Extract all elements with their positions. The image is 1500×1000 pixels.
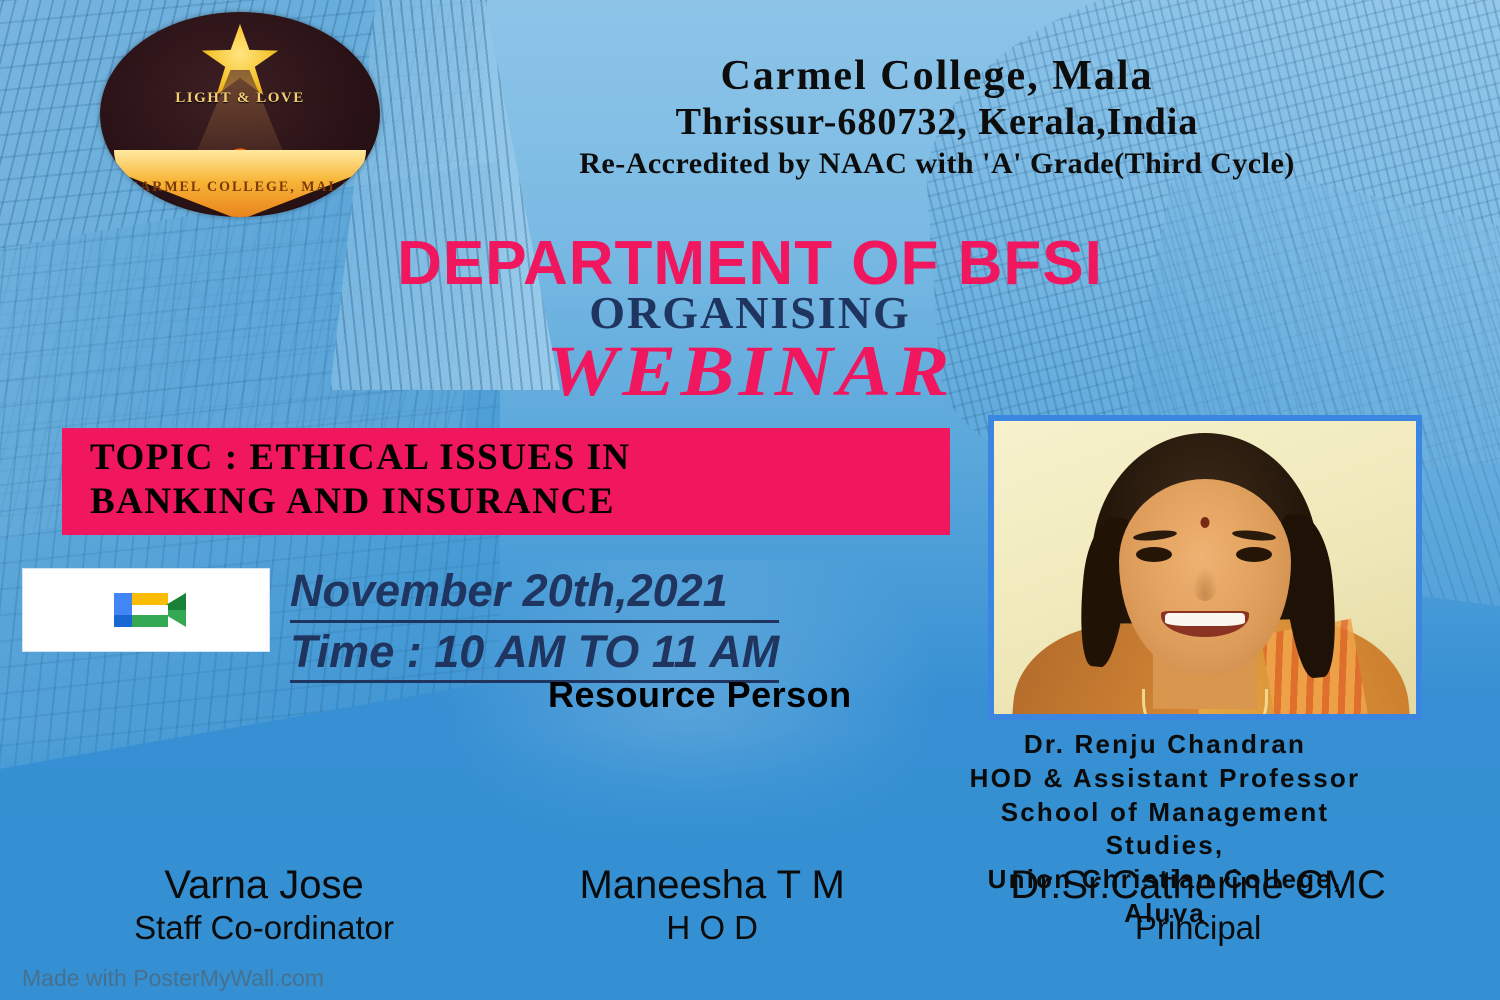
portrait-teeth [1165, 613, 1245, 626]
college-address: Thrissur-680732, Kerala,India [380, 100, 1494, 145]
speaker-designation: HOD & Assistant Professor [860, 762, 1470, 796]
topic-line-2: BANKING AND INSURANCE [90, 480, 936, 524]
institution-header: Carmel College, Mala Thrissur-680732, Ke… [380, 52, 1494, 183]
portrait-nose [1192, 567, 1218, 601]
topic-banner: TOPIC : ETHICAL ISSUES IN BANKING AND IN… [62, 428, 950, 535]
portrait-necklace [1142, 689, 1268, 720]
credit-hod: Maneesha T M H O D [562, 862, 862, 948]
speaker-department-line2: Studies, [860, 829, 1470, 863]
credit-name: Maneesha T M [562, 862, 862, 908]
accreditation-line: Re-Accredited by NAAC with 'A' Grade(Thi… [380, 145, 1494, 183]
speaker-department-line1: School of Management [860, 796, 1470, 830]
speaker-photo [988, 415, 1422, 720]
speaker-name: Dr. Renju Chandran [860, 728, 1470, 762]
portrait-eye-right [1236, 547, 1272, 562]
credits-row: Varna Jose Staff Co-ordinator Maneesha T… [0, 862, 1500, 948]
event-type-title: WEBINAR [0, 330, 1500, 413]
postermywall-watermark: Made with PosterMyWall.com [22, 965, 324, 992]
portrait-eye-left [1136, 547, 1172, 562]
portrait-bindi [1201, 517, 1210, 528]
google-meet-icon [98, 581, 194, 639]
credit-principal: Dr.Sr.Catherine CMC Principal [1010, 862, 1386, 948]
webinar-date: November 20th,2021 [290, 562, 779, 623]
webinar-poster: LIGHT & LOVE CARMEL COLLEGE, MALA Carmel… [0, 0, 1500, 1000]
logo-motto: LIGHT & LOVE [100, 90, 380, 107]
college-logo: LIGHT & LOVE CARMEL COLLEGE, MALA [100, 12, 380, 217]
schedule-block: November 20th,2021 Time : 10 AM TO 11 AM [290, 562, 779, 683]
credit-role: H O D [562, 908, 862, 948]
credit-role: Staff Co-ordinator [114, 908, 414, 948]
college-name: Carmel College, Mala [380, 52, 1494, 100]
credit-name: Varna Jose [114, 862, 414, 908]
credit-staff-coordinator: Varna Jose Staff Co-ordinator [114, 862, 414, 948]
resource-person-label: Resource Person [548, 674, 852, 716]
topic-line-1: TOPIC : ETHICAL ISSUES IN [90, 436, 936, 480]
credit-role: Principal [1010, 908, 1386, 948]
credit-name: Dr.Sr.Catherine CMC [1010, 862, 1386, 908]
logo-banner-text: CARMEL COLLEGE, MALA [100, 180, 380, 197]
platform-icon-box [22, 568, 270, 652]
